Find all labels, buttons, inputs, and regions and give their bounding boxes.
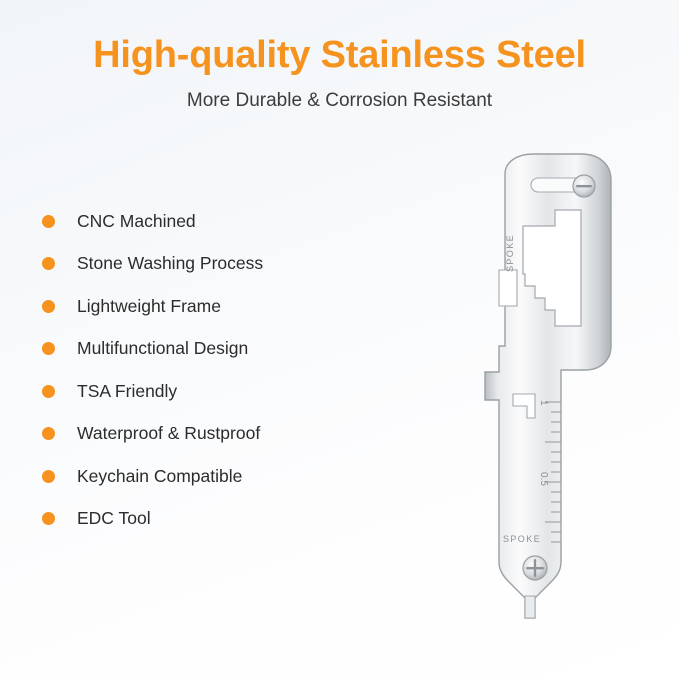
- list-item-label: CNC Machined: [77, 211, 196, 232]
- list-item-label: Multifunctional Design: [77, 338, 248, 359]
- list-item-label: Lightweight Frame: [77, 296, 221, 317]
- bullet-icon: [42, 257, 55, 270]
- bullet-icon: [42, 300, 55, 313]
- feature-list: CNC Machined Stone Washing Process Light…: [42, 200, 372, 540]
- list-item: Multifunctional Design: [42, 328, 372, 371]
- screw-head-bottom-icon: [523, 556, 547, 580]
- list-item: EDC Tool: [42, 498, 372, 541]
- page-title: High-quality Stainless Steel: [0, 34, 679, 77]
- page-subtitle: More Durable & Corrosion Resistant: [0, 90, 679, 112]
- list-item: Lightweight Frame: [42, 285, 372, 328]
- brand-text-top: SPOKE: [505, 234, 515, 272]
- bullet-icon: [42, 470, 55, 483]
- product-image: 1 0.5 SPOKE SPOKE: [385, 150, 645, 630]
- list-item-label: Keychain Compatible: [77, 466, 242, 487]
- list-item: Stone Washing Process: [42, 243, 372, 286]
- screw-head-icon: [573, 175, 595, 197]
- list-item-label: Waterproof & Rustproof: [77, 423, 260, 444]
- bullet-icon: [42, 512, 55, 525]
- list-item: TSA Friendly: [42, 370, 372, 413]
- list-item-label: TSA Friendly: [77, 381, 177, 402]
- ruler-label-1: 1: [538, 400, 549, 406]
- list-item: Keychain Compatible: [42, 455, 372, 498]
- promo-graphic: High-quality Stainless Steel More Durabl…: [0, 0, 679, 679]
- brand-text-bottom: SPOKE: [503, 534, 541, 544]
- bullet-icon: [42, 385, 55, 398]
- bullet-icon: [42, 215, 55, 228]
- bullet-icon: [42, 342, 55, 355]
- key-body: [485, 154, 611, 618]
- list-item: Waterproof & Rustproof: [42, 413, 372, 456]
- list-item-label: Stone Washing Process: [77, 253, 263, 274]
- bullet-icon: [42, 427, 55, 440]
- list-item: CNC Machined: [42, 200, 372, 243]
- list-item-label: EDC Tool: [77, 508, 151, 529]
- ruler-label-half: 0.5: [538, 472, 549, 486]
